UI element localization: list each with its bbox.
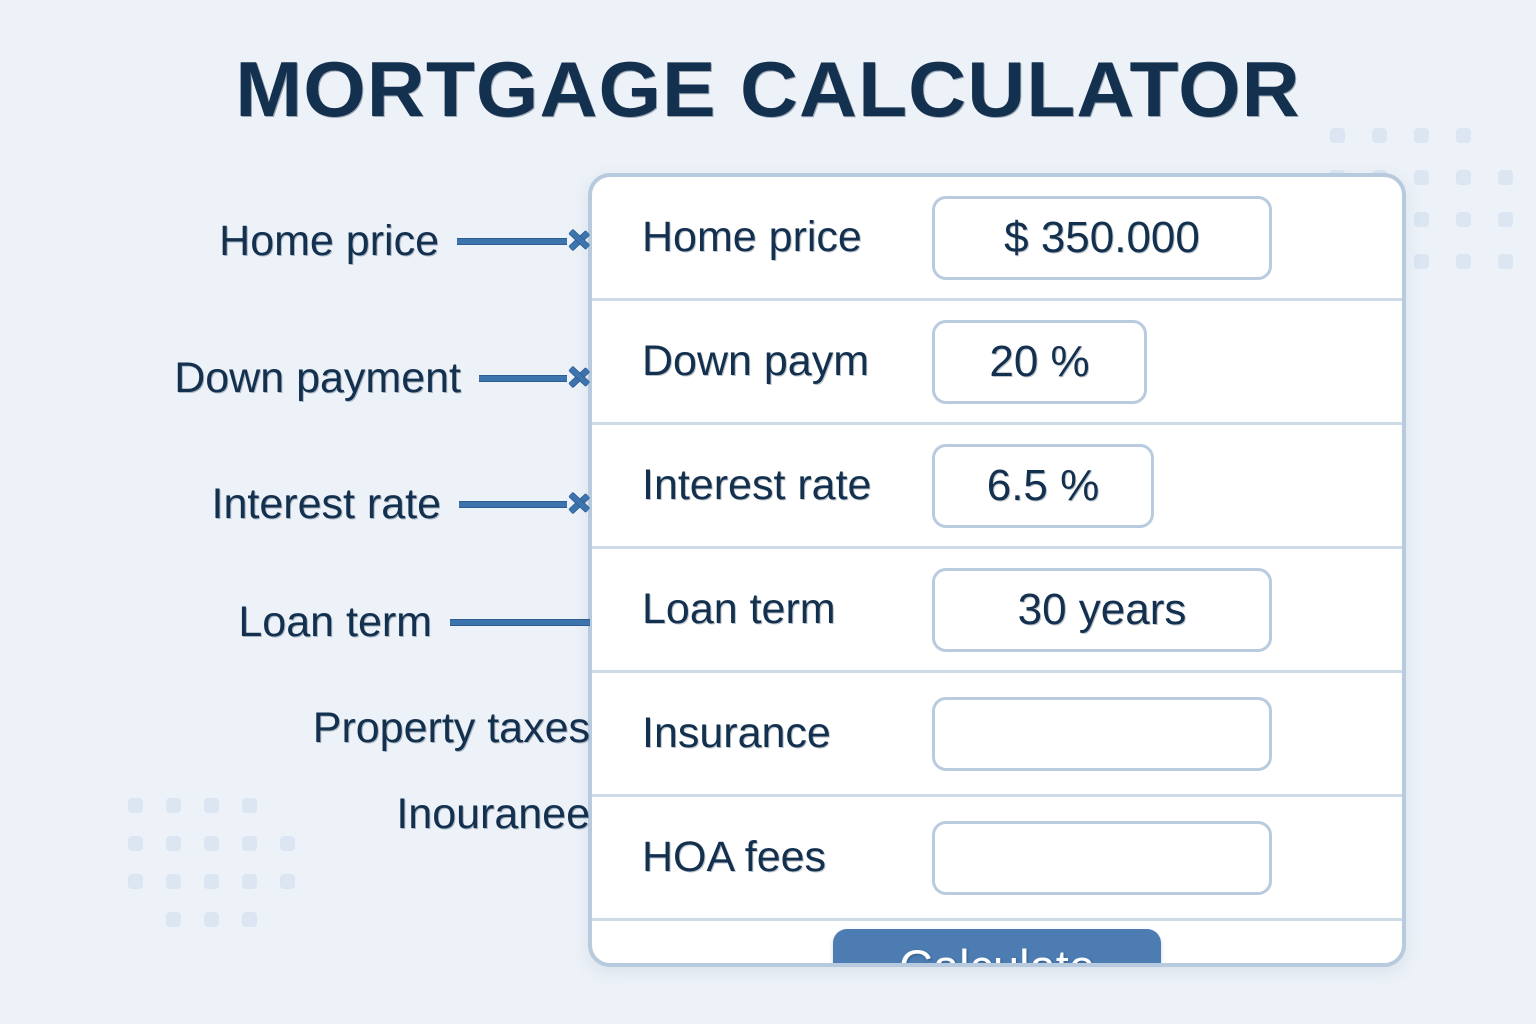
calculate-button-row: Calculate	[592, 921, 1402, 967]
form-row-label: Interest rate	[642, 464, 932, 507]
arrow-right-icon	[479, 365, 590, 391]
annotation-label: Property taxes	[313, 707, 590, 750]
annotation-label: Interest rate	[212, 483, 441, 526]
input-value: 30 years	[1018, 588, 1187, 632]
arrow-head-icon	[564, 365, 590, 391]
decorative-dot	[1456, 170, 1471, 185]
form-row: Home price$ 350.000	[592, 177, 1402, 301]
annotation-item: Down payment	[174, 350, 590, 406]
form-row: Insurance	[592, 673, 1402, 797]
form-row: HOA fees	[592, 797, 1402, 921]
annotation-label: Loan term	[238, 601, 432, 644]
annotation-item: Property taxes	[313, 700, 590, 756]
calculate-button[interactable]: Calculate	[833, 929, 1161, 967]
input-field[interactable]: 6.5 %	[932, 444, 1154, 528]
form-row-label: Insurance	[642, 712, 932, 755]
input-field[interactable]	[932, 821, 1272, 895]
connector-line	[459, 501, 567, 508]
form-row: Interest rate6.5 %	[592, 425, 1402, 549]
annotation-item: Inouranee	[396, 786, 590, 842]
decorative-dot	[1498, 254, 1513, 269]
decorative-dot	[1456, 212, 1471, 227]
arrow-right-icon	[459, 491, 590, 517]
form-row-label: Down paym	[642, 340, 932, 383]
form-row-label: Loan term	[642, 588, 932, 631]
arrow-head-icon	[564, 491, 590, 517]
connector-line-icon	[450, 609, 590, 635]
decorative-dot	[1456, 254, 1471, 269]
annotation-label: Inouranee	[396, 793, 590, 836]
form-row: Loan term30 years	[592, 549, 1402, 673]
input-value: 6.5 %	[987, 464, 1100, 508]
connector-line	[457, 238, 567, 245]
form-row: Down paym20 %	[592, 301, 1402, 425]
calculator-form: Home price$ 350.000Down paym20 %Interest…	[592, 177, 1402, 921]
mortgage-calculator-card: Home price$ 350.000Down paym20 %Interest…	[588, 173, 1406, 967]
input-field[interactable]: $ 350.000	[932, 196, 1272, 280]
arrow-right-icon	[457, 228, 590, 254]
decorative-dot	[1414, 254, 1429, 269]
decorative-dot	[1498, 212, 1513, 227]
annotation-item: Loan term	[238, 594, 590, 650]
form-row-label: Home price	[642, 216, 932, 259]
connector-line	[450, 619, 590, 626]
input-value: 20 %	[989, 340, 1089, 384]
input-value: $ 350.000	[1004, 216, 1200, 260]
connector-line	[479, 375, 567, 382]
annotation-list: Home priceDown paymentInterest rateLoan …	[0, 0, 590, 1024]
annotation-item: Home price	[219, 213, 590, 269]
annotation-label: Down payment	[174, 357, 461, 400]
decorative-dot	[1498, 170, 1513, 185]
decorative-dot	[1414, 212, 1429, 227]
annotation-item: Interest rate	[212, 476, 590, 532]
input-field[interactable]: 20 %	[932, 320, 1147, 404]
decorative-dot	[1414, 170, 1429, 185]
annotation-label: Home price	[219, 220, 439, 263]
form-row-label: HOA fees	[642, 836, 932, 879]
input-field[interactable]	[932, 697, 1272, 771]
arrow-head-icon	[564, 228, 590, 254]
input-field[interactable]: 30 years	[932, 568, 1272, 652]
